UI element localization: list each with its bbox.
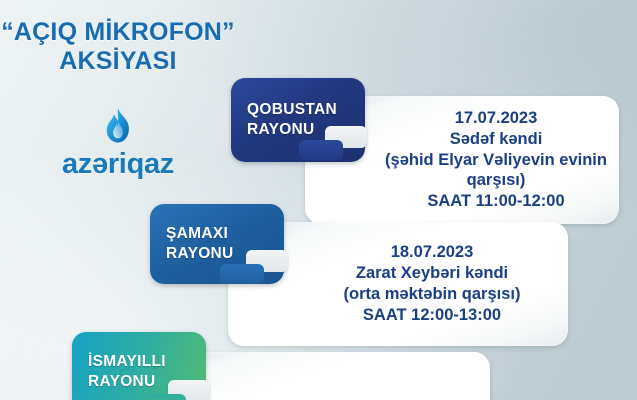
headline-line-1: “AÇIQ MİKROFON” bbox=[0, 18, 236, 47]
connector-tab-dark-2 bbox=[220, 264, 264, 284]
district-suffix: RAYONU bbox=[247, 120, 337, 140]
district-suffix: RAYONU bbox=[166, 244, 234, 264]
brand-logo: azəriqaz bbox=[0, 108, 236, 179]
district-name: ŞAMAXI bbox=[166, 224, 234, 244]
district-suffix: RAYONU bbox=[88, 372, 166, 392]
event-place: Sədəf kəndi bbox=[385, 129, 607, 150]
brand-wordmark: azəriqaz bbox=[0, 150, 236, 179]
event-detail: (şəhid Elyar Vəliyevin evinin bbox=[385, 150, 607, 171]
event-detail-cont: qarşısı) bbox=[385, 170, 607, 191]
district-badge-ismayilli-label: İSMAYILLI RAYONU bbox=[72, 352, 166, 393]
event-time: SAAT 12:00-13:00 bbox=[344, 305, 521, 326]
flame-icon bbox=[101, 108, 135, 148]
event-date: 18.07.2023 bbox=[344, 242, 521, 263]
event-detail: (orta məktəbin qarşısı) bbox=[344, 284, 521, 305]
district-badge-qobustan: QOBUSTAN RAYONU bbox=[231, 78, 365, 162]
connector-tab-dark-3 bbox=[142, 394, 186, 400]
event-place: Zarat Xeybəri kəndi bbox=[344, 263, 521, 284]
district-name: İSMAYILLI bbox=[88, 352, 166, 372]
district-badge-qobustan-label: QOBUSTAN RAYONU bbox=[231, 100, 337, 141]
poster-canvas: “AÇIQ MİKROFON” AKSİYASI azəriqaz bbox=[0, 0, 637, 400]
district-badge-samaxi-label: ŞAMAXI RAYONU bbox=[150, 224, 234, 265]
district-name: QOBUSTAN bbox=[247, 100, 337, 120]
connector-tab-dark-1 bbox=[299, 140, 343, 160]
event-time: SAAT 11:00-12:00 bbox=[385, 191, 607, 212]
page-title: “AÇIQ MİKROFON” AKSİYASI bbox=[0, 18, 236, 76]
event-date: 17.07.2023 bbox=[385, 108, 607, 129]
event-card-2-text: 18.07.2023 Zarat Xeybəri kəndi (orta mək… bbox=[266, 238, 531, 329]
headline-line-2: AKSİYASI bbox=[0, 47, 236, 76]
